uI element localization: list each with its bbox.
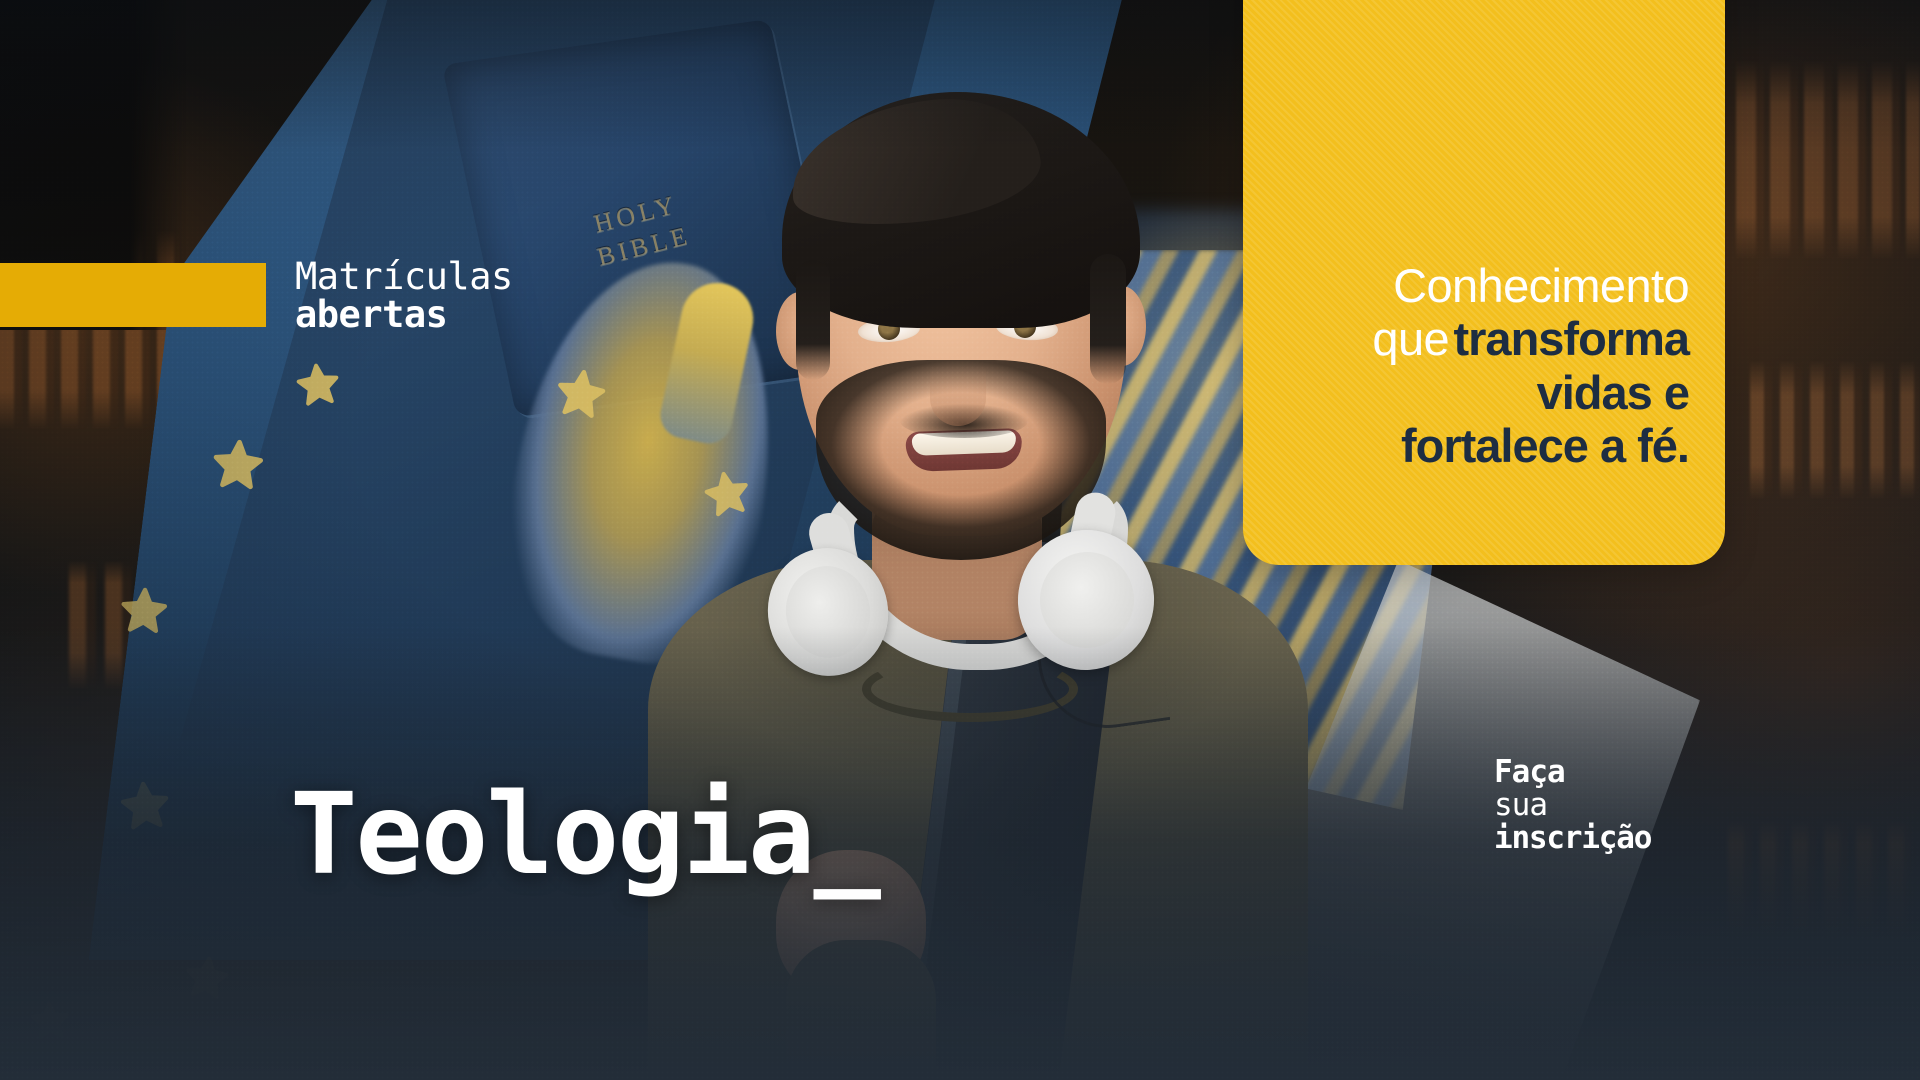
enrollment-line-2: abertas — [295, 296, 555, 334]
headline-line-3: vidas e — [1269, 366, 1689, 420]
cta-line-2: sua — [1494, 789, 1714, 822]
page-title: Teologia_ — [290, 770, 879, 900]
headline-card: Conhecimento que transforma vidas e fort… — [1243, 0, 1725, 565]
headline-word-fortalece-a-fe: fortalece a fé. — [1401, 419, 1689, 472]
enrollment-badge: Matrículas abertas — [295, 258, 555, 333]
promo-banner: HOLY BIBLE — [0, 0, 1920, 1080]
headline-line-1: Conhecimento — [1269, 259, 1689, 313]
headline-line-2: que transforma — [1269, 312, 1689, 366]
headline-word-que: que — [1372, 312, 1449, 365]
headline-word-transforma: transforma — [1453, 312, 1689, 365]
headline-word-conhecimento: Conhecimento — [1393, 259, 1689, 312]
cta-line-3: inscrição — [1494, 822, 1714, 855]
cta-inscricao[interactable]: Faça sua inscrição — [1494, 756, 1714, 855]
headline-word-vidas-e: vidas e — [1537, 366, 1689, 419]
headline-line-4: fortalece a fé. — [1269, 419, 1689, 473]
accent-bar-left — [0, 263, 266, 327]
enrollment-line-1: Matrículas — [295, 258, 555, 296]
cta-line-1: Faça — [1494, 756, 1714, 789]
